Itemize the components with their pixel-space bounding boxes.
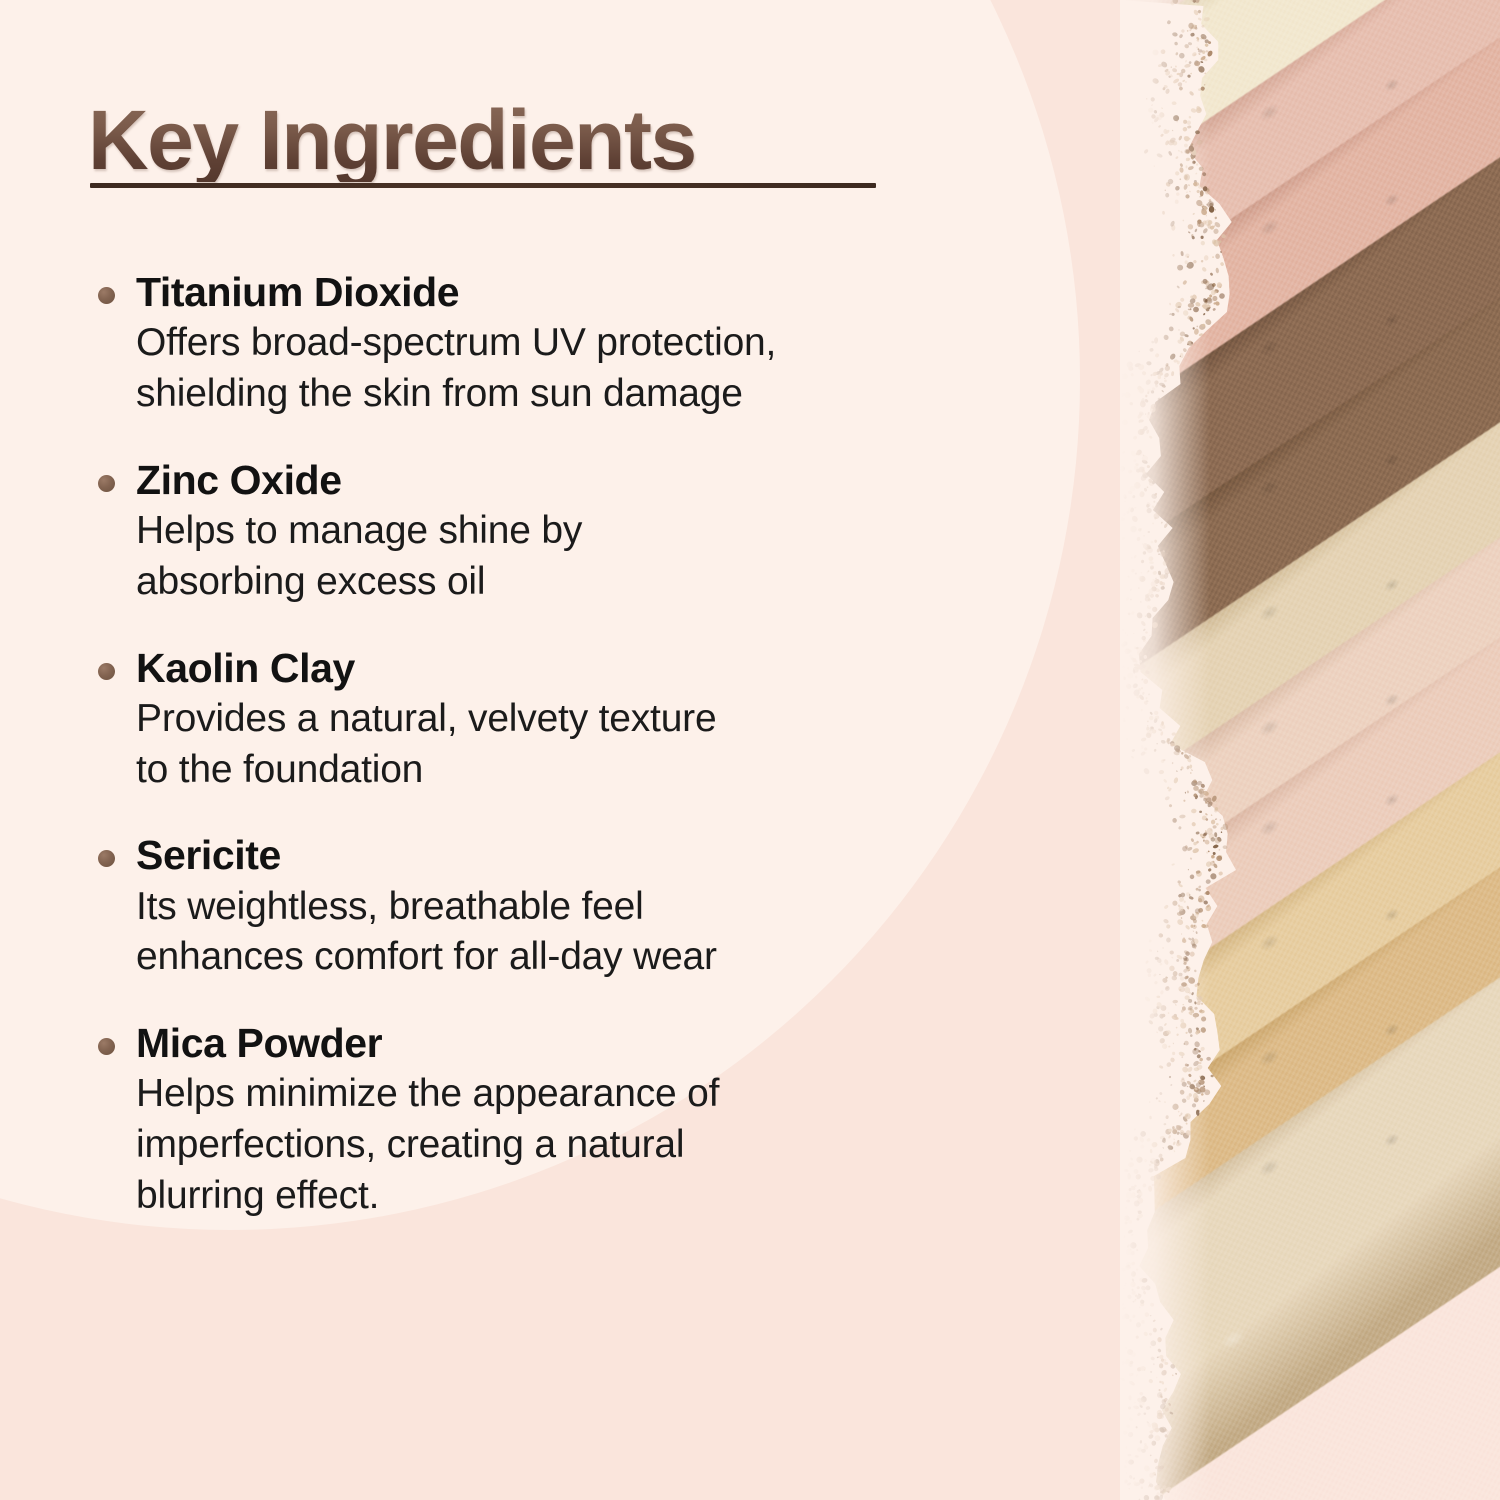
page-title: Key Ingredients: [88, 98, 696, 182]
ingredient-item: SericiteIts weightless, breathable feel …: [96, 831, 1026, 983]
bullet-dot-icon: [98, 1038, 115, 1055]
powder-crumb-edge: [1120, 0, 1290, 1500]
ingredient-item: Mica PowderHelps minimize the appearance…: [96, 1019, 1026, 1221]
ingredient-name: Kaolin Clay: [136, 644, 1026, 692]
powder-grain: [1165, 1450, 1167, 1452]
powder-grain: [1196, 140, 1203, 145]
ingredient-description: Offers broad-spectrum UV protection, shi…: [136, 318, 1026, 419]
ingredient-item: Zinc OxideHelps to manage shine by absor…: [96, 456, 1026, 608]
powder-grain: [1166, 553, 1168, 555]
ingredient-name: Sericite: [136, 831, 1026, 879]
powder-grain: [1197, 989, 1199, 990]
powder-grain: [1145, 670, 1151, 675]
ingredient-item: Titanium DioxideOffers broad-spectrum UV…: [96, 268, 1026, 420]
powder-grain: [1140, 401, 1146, 408]
powder-grain: [1162, 547, 1165, 550]
powder-grain: [1203, 16, 1210, 22]
powder-grain: [1143, 655, 1147, 659]
ingredient-list: Titanium DioxideOffers broad-spectrum UV…: [96, 268, 1026, 1221]
powder-grain: [1204, 84, 1206, 86]
ingredient-description: Helps minimize the appearance of imperfe…: [136, 1069, 1026, 1221]
ingredient-item: Kaolin ClayProvides a natural, velvety t…: [96, 644, 1026, 796]
ingredient-name: Titanium Dioxide: [136, 268, 1026, 316]
page-title-underline: [90, 183, 876, 188]
bullet-dot-icon: [98, 850, 115, 867]
powder-grain: [1145, 752, 1147, 754]
powder-grain: [1206, 1057, 1211, 1061]
bullet-dot-icon: [98, 663, 115, 680]
ingredient-description: Helps to manage shine by absorbing exces…: [136, 506, 1026, 607]
page-title-wrap: Key Ingredients: [88, 98, 696, 182]
powder-photo: [1120, 0, 1500, 1500]
powder-grain: [1162, 1478, 1166, 1483]
powder-grain: [1129, 1188, 1132, 1191]
powder-grain: [1171, 1398, 1173, 1400]
powder-grain: [1202, 172, 1207, 177]
bullet-dot-icon: [98, 475, 115, 492]
powder-grain: [1175, 200, 1179, 204]
powder-grain: [1190, 1034, 1193, 1037]
powder-grain: [1158, 554, 1160, 555]
bullet-dot-icon: [98, 287, 115, 304]
ingredient-description: Its weightless, breathable feel enhances…: [136, 882, 1026, 983]
powder-grain: [1193, 1093, 1198, 1099]
ingredient-name: Zinc Oxide: [136, 456, 1026, 504]
ingredient-name: Mica Powder: [136, 1019, 1026, 1067]
ingredient-description: Provides a natural, velvety texture to t…: [136, 694, 1026, 795]
content-column: Key Ingredients Titanium DioxideOffers b…: [0, 0, 1060, 1500]
powder-grain: [1159, 543, 1164, 547]
powder-grain: [1156, 1174, 1161, 1180]
powder-grain: [1165, 190, 1166, 192]
powder-grain: [1185, 260, 1188, 264]
